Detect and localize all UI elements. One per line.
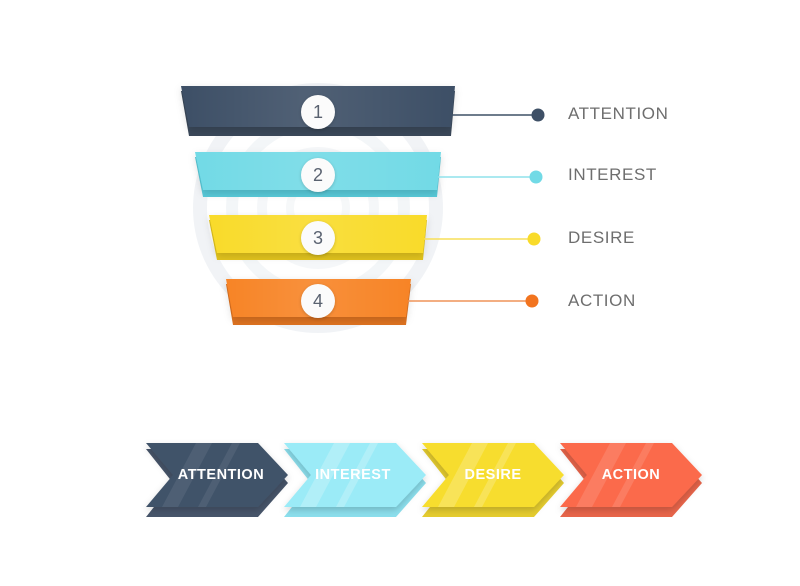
funnel-stage-1-label: ATTENTION [568, 104, 668, 124]
funnel-stage-1-connector-dot [532, 109, 545, 122]
infographic-svg [0, 0, 800, 586]
funnel-stage-1[interactable] [181, 86, 545, 136]
arrow-item-interest-label: INTEREST [300, 467, 406, 483]
funnel-stage-3[interactable] [209, 215, 541, 260]
arrow-item-desire-label: DESIRE [440, 467, 546, 483]
funnel-stage-2-number: 2 [301, 158, 335, 192]
funnel-stage-4-label: ACTION [568, 291, 636, 311]
funnel-stage-4-number: 4 [301, 284, 335, 318]
arrow-item-action-label: ACTION [578, 467, 684, 483]
funnel-stage-3-number: 3 [301, 221, 335, 255]
funnel-stage-4-connector-dot [526, 295, 539, 308]
funnel-stage-2[interactable] [195, 152, 543, 197]
funnel-stage-3-connector-dot [528, 233, 541, 246]
funnel-stage-2-label: INTEREST [568, 165, 657, 185]
funnel-stage-2-connector-dot [530, 171, 543, 184]
funnel-stage-1-number: 1 [301, 95, 335, 129]
funnel-stage-3-label: DESIRE [568, 228, 635, 248]
funnel-stage-4[interactable] [226, 279, 539, 325]
arrow-item-attention-label: ATTENTION [168, 467, 274, 483]
infographic-canvas: 1 2 3 4 ATTENTION INTEREST DESIRE ACTION… [0, 0, 800, 586]
